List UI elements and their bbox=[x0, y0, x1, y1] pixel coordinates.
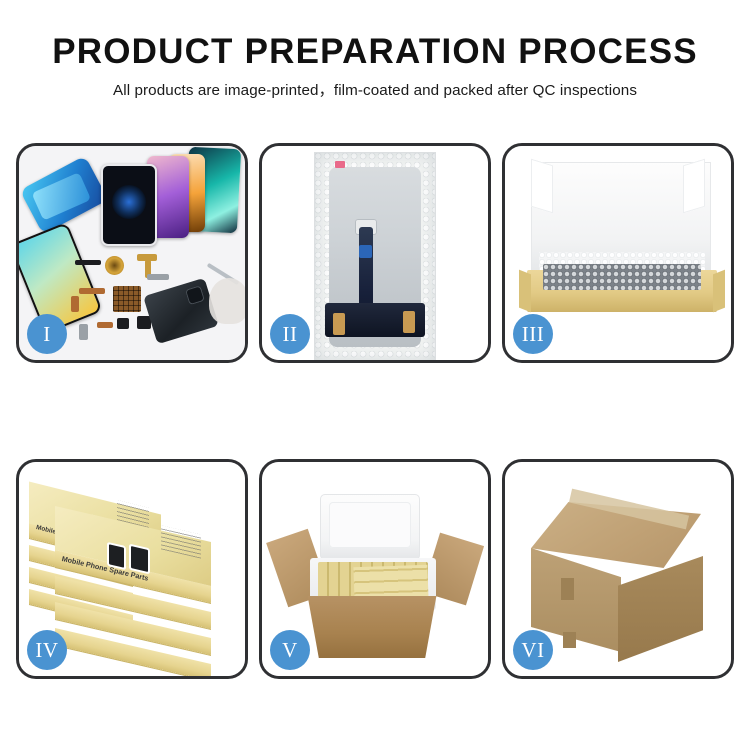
step-badge-6: VI bbox=[513, 630, 553, 670]
carton-handle-cut-top bbox=[561, 578, 574, 600]
gold-tab-left bbox=[333, 313, 345, 335]
step-badge-1: I bbox=[27, 314, 67, 354]
qc-sticker bbox=[335, 161, 345, 168]
process-steps-row-bottom: Mobile Phone Spare Parts Mobile Phone Sp… bbox=[16, 459, 734, 679]
step-badge-3: III bbox=[513, 314, 553, 354]
process-steps-grid: I II bbox=[0, 143, 750, 679]
process-steps-row-top: I II bbox=[16, 143, 734, 363]
ribbon-part-a bbox=[79, 288, 105, 294]
driver-ic-chip bbox=[359, 245, 372, 258]
process-step-card-4[interactable]: Mobile Phone Spare Parts Mobile Phone Sp… bbox=[16, 459, 248, 679]
speaker-coil-part bbox=[105, 256, 124, 275]
process-step-card-5[interactable]: V bbox=[259, 459, 491, 679]
technician-hand bbox=[209, 278, 245, 324]
ribbon-part-b bbox=[71, 296, 79, 312]
camera-part bbox=[117, 318, 129, 329]
connector-chip-part bbox=[113, 286, 141, 312]
sim-tray-part bbox=[79, 324, 88, 340]
retail-box-window-2a bbox=[109, 544, 124, 567]
page-subtitle: All products are image-printed，film-coat… bbox=[0, 80, 750, 102]
gold-tab-right bbox=[403, 311, 415, 333]
earpiece-part bbox=[75, 260, 101, 265]
process-step-card-3[interactable]: III bbox=[502, 143, 734, 363]
bracket-part bbox=[147, 274, 169, 280]
process-step-card-2[interactable]: II bbox=[259, 143, 491, 363]
foam-lid bbox=[320, 494, 420, 560]
box-lid-flap-left bbox=[531, 159, 553, 214]
antenna-part bbox=[97, 322, 113, 328]
process-step-card-6[interactable]: VI bbox=[502, 459, 734, 679]
carton-handle-cut-bottom bbox=[563, 632, 576, 648]
step-badge-4: IV bbox=[27, 630, 67, 670]
bubble-wrap-bag bbox=[314, 152, 436, 360]
bubble-wrapped-contents bbox=[543, 264, 701, 290]
page-header: PRODUCT PREPARATION PROCESS All products… bbox=[0, 0, 750, 102]
process-step-card-1[interactable]: I bbox=[16, 143, 248, 363]
page-title: PRODUCT PREPARATION PROCESS bbox=[0, 30, 750, 74]
phone-display-black bbox=[101, 164, 157, 246]
carton-body bbox=[302, 596, 442, 658]
retail-box-window-2b bbox=[131, 546, 148, 572]
step-badge-5: V bbox=[270, 630, 310, 670]
step-badge-2: II bbox=[270, 314, 310, 354]
box-lid-flap-right bbox=[683, 159, 705, 214]
